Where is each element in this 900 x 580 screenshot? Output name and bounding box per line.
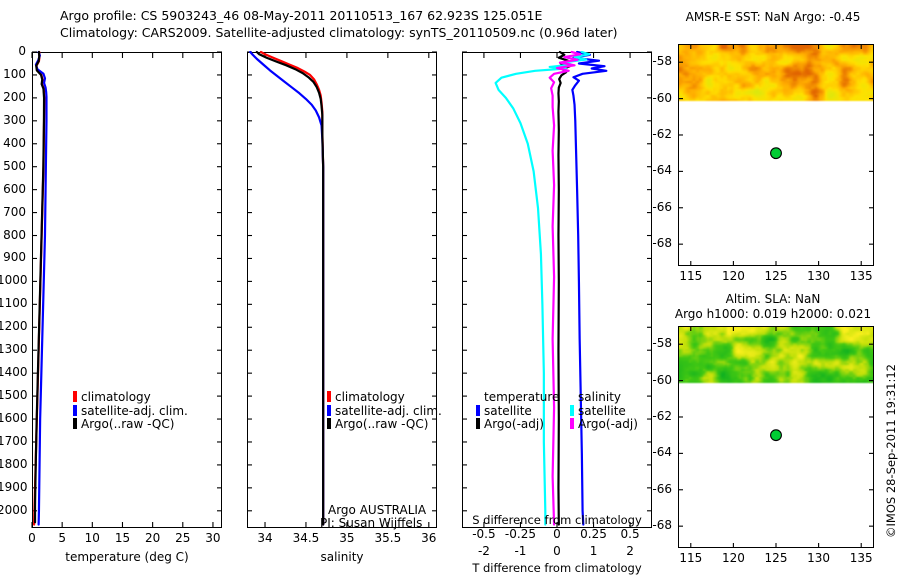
temperature-tick-label: 5 — [58, 531, 66, 545]
salinity-legend-item: climatology — [327, 391, 442, 405]
sla-map-lon-label: 125 — [765, 551, 788, 565]
legend-label: satellite — [484, 404, 532, 418]
temperature-legend: climatologysatellite-adj. clim.Argo(..ra… — [73, 391, 188, 432]
sst-map-lat-label: -64 — [645, 163, 672, 177]
sdiff-tick-label: 0 — [553, 527, 561, 541]
sst-map-lon-label: 125 — [765, 269, 788, 283]
depth-tick-label: 400 — [0, 136, 26, 150]
argo-program-label: Argo AUSTRALIA — [328, 503, 426, 517]
tdiff-tick-label: 0 — [553, 544, 561, 558]
sst-map-lat-label: -68 — [645, 236, 672, 250]
depth-tick-label: 600 — [0, 182, 26, 196]
salinity-tick-label: 35.5 — [375, 531, 402, 545]
legend-color-swatch — [73, 405, 77, 416]
depth-tick-label: 500 — [0, 159, 26, 173]
sdiff-tick-label: -0.25 — [505, 527, 536, 541]
depth-tick-label: 1700 — [0, 434, 26, 448]
sst-map-lon-label: 115 — [679, 269, 702, 283]
salinity-legend-item: satellite-adj. clim. — [327, 405, 442, 419]
sla-map-title-line2: Argo h1000: 0.019 h2000: 0.021 — [660, 307, 886, 321]
depth-tick-label: 1400 — [0, 365, 26, 379]
legend-color-swatch — [476, 405, 480, 416]
depth-tick-label: 1500 — [0, 388, 26, 402]
temperature-legend-item: climatology — [73, 391, 188, 405]
sst-map-lat-label: -62 — [645, 127, 672, 141]
temperature-tick-label: 20 — [145, 531, 160, 545]
difference-legend-salinity: salinitysatelliteArgo(-adj) — [570, 391, 638, 432]
depth-tick-label: 900 — [0, 250, 26, 264]
legend-color-swatch — [73, 391, 77, 402]
depth-tick-label: 300 — [0, 113, 26, 127]
legend-label: Argo(-adj) — [578, 417, 638, 431]
salinity-plot-canvas — [247, 52, 437, 528]
legend-label: climatology — [335, 390, 405, 404]
depth-tick-label: 800 — [0, 228, 26, 242]
temperature-tick-label: 25 — [175, 531, 190, 545]
difference-legend-temp-heading: temperature — [484, 391, 559, 405]
sla-map-lat-label: -60 — [645, 373, 672, 387]
salinity-axis-label: salinity — [247, 550, 437, 564]
salinity-tick-label: 34 — [257, 531, 272, 545]
depth-tick-label: 700 — [0, 205, 26, 219]
imos-watermark: ©IMOS 28-Sep-2011 19:31:12 — [884, 364, 898, 538]
temperature-tick-label: 30 — [205, 531, 220, 545]
legend-label: satellite-adj. clim. — [81, 404, 188, 418]
sla-map-lon-label: 135 — [850, 551, 873, 565]
depth-tick-label: 1600 — [0, 411, 26, 425]
sla-map-lon-label: 130 — [807, 551, 830, 565]
sla-map-title-line1: Altim. SLA: NaN — [668, 292, 878, 306]
sst-map-lat-label: -60 — [645, 91, 672, 105]
sla-map-lat-label: -66 — [645, 482, 672, 496]
temperature-tick-label: 15 — [115, 531, 130, 545]
legend-label: satellite-adj. clim. — [335, 404, 442, 418]
sdiff-tick-label: 0.5 — [621, 527, 640, 541]
temperature-tick-label: 10 — [85, 531, 100, 545]
temperature-legend-item: Argo(..raw -QC) — [73, 418, 188, 432]
sst-map-lat-label: -58 — [645, 54, 672, 68]
legend-label: Argo(..raw -QC) — [335, 417, 428, 431]
legend-color-swatch — [327, 405, 331, 416]
salinity-tick-label: 35 — [339, 531, 354, 545]
difference-t-axis-label: T difference from climatology — [462, 561, 652, 575]
page-title-line1: Argo profile: CS 5903243_46 08-May-2011 … — [60, 8, 542, 23]
difference-legend-sal-heading: salinity — [578, 391, 638, 405]
sdiff-tick-label: 0.25 — [580, 527, 607, 541]
legend-color-swatch — [327, 418, 331, 429]
difference-legend-sal-item: Argo(-adj) — [570, 418, 638, 432]
difference-legend-temp-item: satellite — [476, 405, 559, 419]
difference-s-axis-label: S difference from climatology — [462, 513, 652, 527]
depth-tick-label: 2000 — [0, 503, 26, 517]
depth-tick-label: 100 — [0, 67, 26, 81]
sst-map-title: AMSR-E SST: NaN Argo: -0.45 — [668, 10, 878, 24]
sla-map-overlay — [678, 326, 874, 548]
temperature-axis-label: temperature (deg C) — [32, 550, 222, 564]
difference-legend-sal-item: satellite — [570, 405, 638, 419]
salinity-tick-label: 36 — [421, 531, 436, 545]
temperature-legend-item: satellite-adj. clim. — [73, 405, 188, 419]
legend-color-swatch — [327, 391, 331, 402]
sst-map-lon-label: 135 — [850, 269, 873, 283]
sla-map-lon-label: 115 — [679, 551, 702, 565]
depth-tick-label: 1300 — [0, 342, 26, 356]
sla-map-lat-label: -62 — [645, 409, 672, 423]
legend-color-swatch — [570, 405, 574, 416]
depth-tick-label: 1000 — [0, 273, 26, 287]
tdiff-tick-label: -1 — [514, 544, 526, 558]
difference-plot-canvas — [462, 52, 652, 528]
sla-map-lat-label: -58 — [645, 336, 672, 350]
salinity-legend: climatologysatellite-adj. clim.Argo(..ra… — [327, 391, 442, 432]
legend-color-swatch — [73, 418, 77, 429]
legend-color-swatch — [570, 418, 574, 429]
sst-map-lon-label: 120 — [722, 269, 745, 283]
salinity-tick-label: 34.5 — [293, 531, 320, 545]
legend-label: climatology — [81, 390, 151, 404]
legend-label: Argo(..raw -QC) — [81, 417, 174, 431]
legend-label: Argo(-adj) — [484, 417, 544, 431]
sla-map-lon-label: 120 — [722, 551, 745, 565]
sst-map-overlay — [678, 44, 874, 266]
sst-map-lat-label: -66 — [645, 200, 672, 214]
tdiff-tick-label: 1 — [590, 544, 598, 558]
difference-legend-temp-item: Argo(-adj) — [476, 418, 559, 432]
sla-map-lat-label: -64 — [645, 445, 672, 459]
page-title-line2: Climatology: CARS2009. Satellite-adjuste… — [60, 25, 617, 40]
sst-map-lon-label: 130 — [807, 269, 830, 283]
sla-map-lat-label: -68 — [645, 518, 672, 532]
depth-tick-label: 1800 — [0, 457, 26, 471]
temperature-plot-canvas — [32, 52, 222, 528]
depth-tick-label: 1100 — [0, 296, 26, 310]
tdiff-tick-label: -2 — [478, 544, 490, 558]
depth-tick-label: 1900 — [0, 480, 26, 494]
tdiff-tick-label: 2 — [626, 544, 634, 558]
difference-legend-temperature: temperaturesatelliteArgo(-adj) — [476, 391, 559, 432]
depth-tick-label: 0 — [0, 44, 26, 58]
temperature-tick-label: 0 — [28, 531, 36, 545]
argo-pi-label: PI: Susan Wijffels — [320, 516, 422, 530]
depth-tick-label: 1200 — [0, 319, 26, 333]
depth-tick-label: 200 — [0, 90, 26, 104]
salinity-legend-item: Argo(..raw -QC) — [327, 418, 442, 432]
legend-label: satellite — [578, 404, 626, 418]
legend-color-swatch — [476, 418, 480, 429]
sdiff-tick-label: -0.5 — [472, 527, 495, 541]
